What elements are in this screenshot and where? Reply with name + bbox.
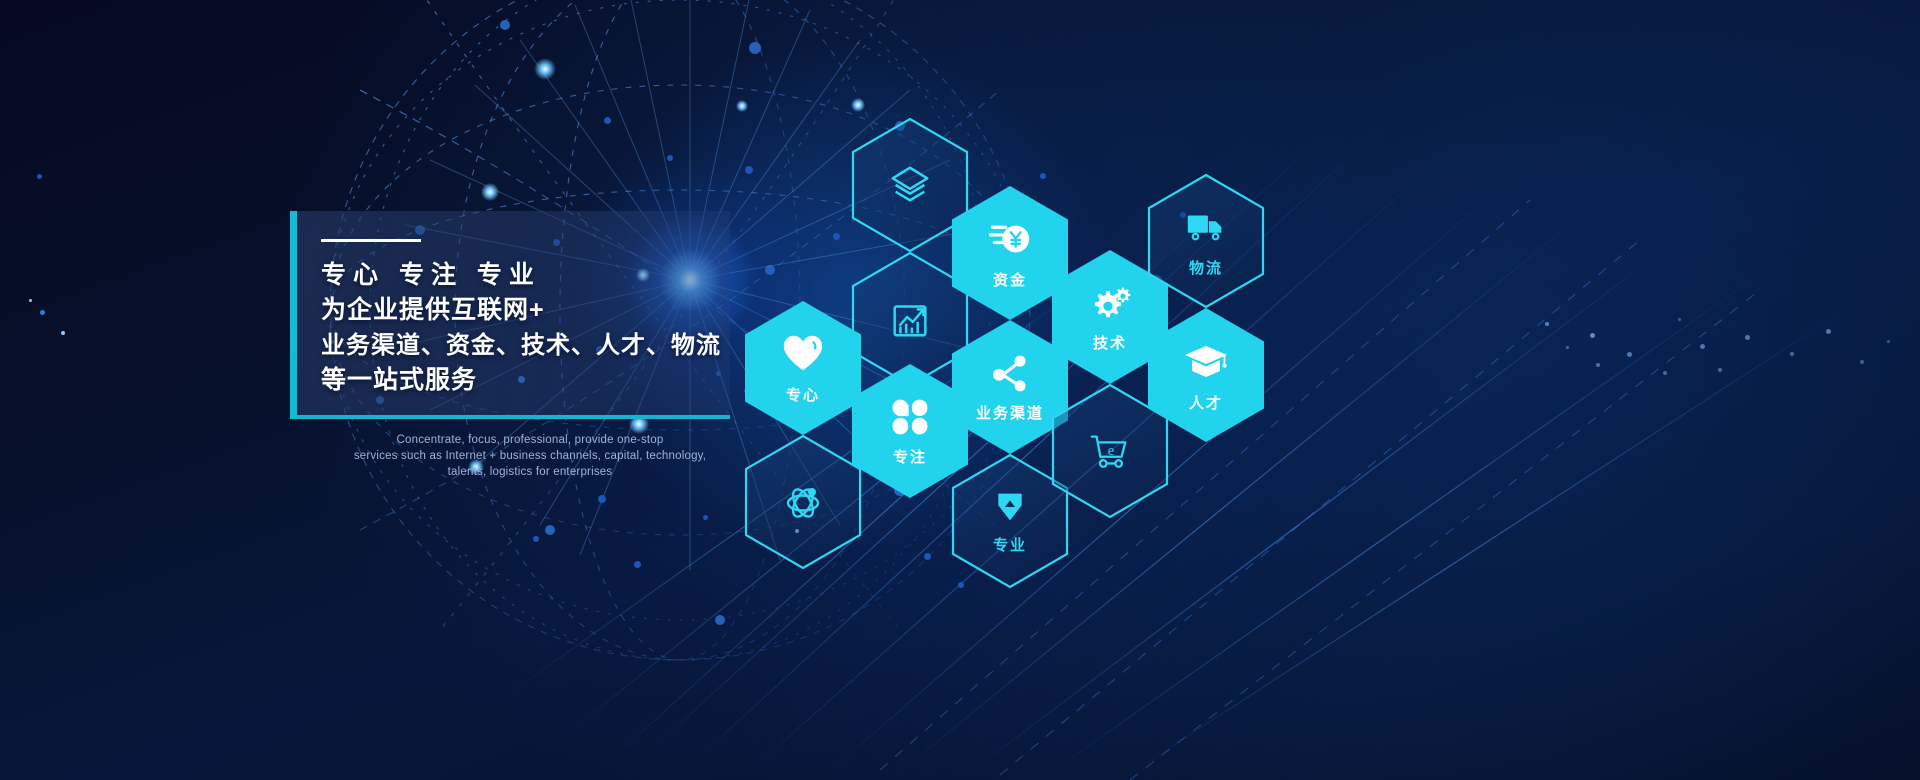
subtitle-line-1: Concentrate, focus, professional, provid… [290,432,770,448]
hexagon-funds[interactable]: 资金 [952,186,1068,320]
dot-field [1790,352,1794,356]
svg-text:e: e [1108,443,1114,459]
bg-dot [745,166,753,174]
hexagon-layers[interactable] [852,118,968,252]
bg-dot [61,331,65,335]
bg-dot [634,561,641,568]
bg-dot [1040,173,1046,179]
yen-coin-icon [987,216,1033,262]
dot-field [1718,368,1722,372]
subtitle-line-2: services such as Internet + business cha… [290,448,770,464]
growth-chart-icon [887,296,933,342]
headline-line-1: 专心 专注 专业 [321,258,730,293]
bg-dot [37,174,42,179]
headline-line-4: 等一站式服务 [321,363,730,398]
bg-dot [29,299,32,302]
subtitle-line-3: talents, logistics for enterprises [290,464,770,480]
dot-field [1590,333,1595,338]
hexagon-label: 专注 [893,446,927,467]
dot-field [1860,360,1864,364]
hexagon-label: 人才 [1189,392,1223,413]
hexagon-label: 资金 [993,269,1027,290]
dot-field [1826,329,1831,334]
hexagon-business-channels[interactable]: 业务渠道 [952,320,1068,454]
hexagon-logistics[interactable]: 物流 [1148,174,1264,308]
bg-dot [924,553,931,560]
atom-icon [779,478,827,526]
dot-field [1663,371,1667,375]
bg-dot [703,515,708,520]
headline-panel: 专心 专注 专业 为企业提供互联网+ 业务渠道、资金、技术、人才、物流 等一站式… [290,211,730,419]
dot-field [1545,322,1549,326]
bg-dot [667,155,673,161]
headline-line-2: 为企业提供互联网+ [321,293,730,328]
hero-banner: 专心 专注 专业 为企业提供互联网+ 业务渠道、资金、技术、人才、物流 等一站式… [0,0,1920,780]
hexagon-atom[interactable] [745,435,861,569]
dot-field [1700,344,1705,349]
dot-field [1745,335,1750,340]
bg-dot [533,536,539,542]
dot-field [1596,363,1600,367]
dot-field [1627,352,1632,357]
layers-icon [887,162,933,208]
graduation-cap-icon [1182,337,1230,385]
dot-field [1566,346,1569,349]
bg-dot [40,310,45,315]
truck-icon [1183,204,1229,250]
hexagon-dedication[interactable]: 专心 [745,301,861,435]
headline-rule [321,239,421,242]
shopping-cart-e-icon: e [1087,428,1133,474]
subtitle-block: Concentrate, focus, professional, provid… [290,432,770,480]
bg-dot [604,117,611,124]
hexagon-label: 物流 [1189,257,1223,278]
hexagon-label: 业务渠道 [976,402,1044,423]
hexagon-professional[interactable]: 专业 [952,454,1068,588]
clover-icon [888,395,932,439]
dot-field [1678,318,1681,321]
bg-dot [598,495,606,503]
share-nodes-icon [988,351,1032,395]
heart-icon [780,331,826,377]
hexagon-label: 技术 [1093,332,1127,353]
hexagon-label: 专业 [993,534,1027,555]
diamond-icon [990,487,1030,527]
hexagon-label: 专心 [786,384,820,405]
bg-dot [833,233,840,240]
hexagon-talent[interactable]: 人才 [1148,308,1264,442]
hexagon-focus[interactable]: 专注 [852,364,968,498]
dot-field [1887,340,1890,343]
headline-line-3: 业务渠道、资金、技术、人才、物流 [321,328,730,363]
gears-icon [1088,281,1132,325]
